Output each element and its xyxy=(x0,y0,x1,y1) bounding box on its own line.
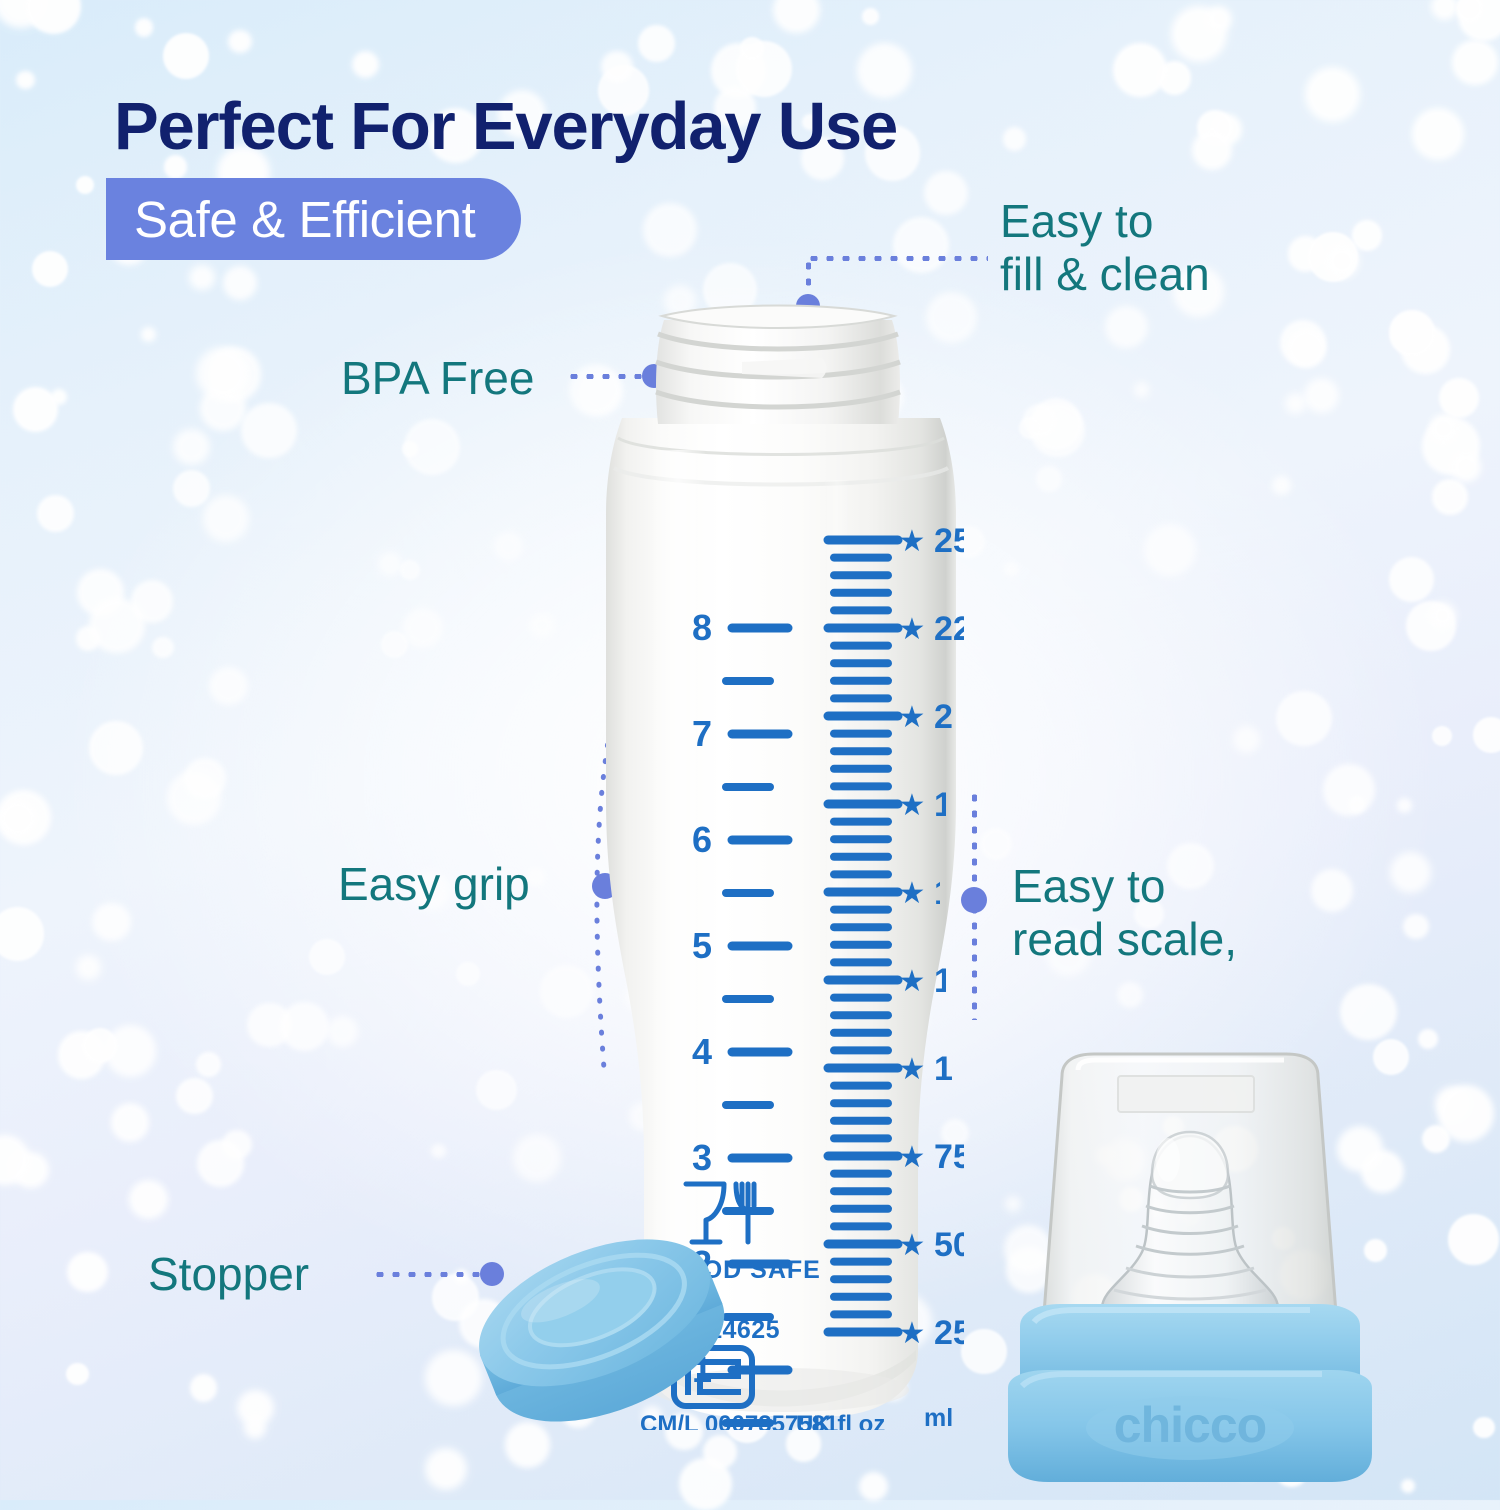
scale-star-icon: ★ xyxy=(899,789,926,822)
bokeh-dot xyxy=(1003,127,1027,151)
bokeh-dot xyxy=(223,266,257,300)
oz-scale-number: 8 xyxy=(692,607,712,648)
bokeh-dot xyxy=(1401,325,1450,374)
bokeh-dot xyxy=(76,176,94,194)
bokeh-dot xyxy=(1422,417,1480,475)
bokeh-dot xyxy=(1456,0,1484,22)
bokeh-dot xyxy=(425,1448,467,1490)
bokeh-dot xyxy=(1023,404,1056,437)
bokeh-dot xyxy=(1105,306,1147,348)
bokeh-dot xyxy=(184,758,225,799)
bokeh-dot xyxy=(1458,0,1500,41)
scale-star-icon: ★ xyxy=(899,1317,926,1350)
bokeh-dot xyxy=(0,790,51,845)
bokeh-dot xyxy=(1134,382,1149,397)
bokeh-dot xyxy=(540,965,593,1018)
bokeh-dot xyxy=(403,608,443,648)
bokeh-dot xyxy=(1412,108,1464,160)
bokeh-dot xyxy=(402,441,417,456)
bokeh-dot xyxy=(601,51,632,82)
nipple-cap-assembly: chicco xyxy=(990,1040,1390,1500)
bokeh-dot xyxy=(1192,130,1232,170)
bokeh-dot xyxy=(1429,414,1459,444)
bokeh-dot xyxy=(105,1025,157,1077)
bokeh-dot xyxy=(1030,403,1085,458)
bokeh-dot xyxy=(431,1144,445,1158)
cap-collar: chicco xyxy=(1008,1304,1372,1482)
bokeh-dot xyxy=(247,1003,291,1047)
bokeh-dot xyxy=(352,51,379,78)
bokeh-dot xyxy=(111,1103,149,1141)
bokeh-dot xyxy=(173,429,210,466)
bokeh-dot xyxy=(76,626,101,651)
bokeh-dot xyxy=(1406,601,1456,651)
bottle-neck-threads xyxy=(656,306,900,425)
oz-scale-number: 5 xyxy=(692,925,712,966)
bokeh-dot xyxy=(152,637,173,658)
callout-stopper: Stopper xyxy=(148,1248,309,1301)
bokeh-dot xyxy=(1390,852,1431,893)
ml-scale-number: 225 xyxy=(934,610,964,648)
bokeh-dot xyxy=(196,1052,221,1077)
bokeh-dot xyxy=(1304,378,1339,413)
subtitle-badge: Safe & Efficient xyxy=(106,178,521,260)
bokeh-dot xyxy=(378,552,402,576)
scale-star-icon: ★ xyxy=(899,877,926,910)
bokeh-dot xyxy=(26,0,81,34)
bokeh-dot xyxy=(1429,602,1456,629)
bokeh-dot xyxy=(13,387,58,432)
bokeh-dot xyxy=(1158,61,1192,95)
bokeh-dot xyxy=(1323,764,1375,816)
bokeh-dot xyxy=(1305,67,1360,122)
bokeh-dot xyxy=(89,721,143,775)
bokeh-dot xyxy=(1473,1417,1495,1439)
bokeh-dot xyxy=(638,25,675,62)
bokeh-dot xyxy=(862,8,879,25)
bokeh-dot xyxy=(1004,562,1018,576)
bokeh-dot xyxy=(222,1130,252,1160)
bokeh-dot xyxy=(679,1458,731,1510)
bokeh-dot xyxy=(135,18,154,37)
bokeh-dot xyxy=(190,1374,217,1401)
bokeh-dot xyxy=(1349,796,1365,812)
bokeh-dot xyxy=(207,347,261,401)
scale-star-icon: ★ xyxy=(899,1229,926,1262)
bokeh-dot xyxy=(66,1363,88,1385)
bokeh-dot xyxy=(12,1152,48,1188)
bokeh-dot xyxy=(16,71,35,90)
bokeh-dot xyxy=(1389,557,1434,602)
bokeh-dot xyxy=(32,251,68,287)
bokeh-dot xyxy=(1171,6,1227,62)
ml-unit-label: ml xyxy=(924,1404,953,1430)
bokeh-dot xyxy=(196,347,249,400)
bokeh-dot xyxy=(529,613,555,639)
chicco-brand-text: chicco xyxy=(1114,1397,1266,1453)
bokeh-dot xyxy=(400,560,420,580)
bokeh-dot xyxy=(244,1417,266,1439)
bokeh-dot xyxy=(1432,726,1453,747)
bokeh-dot xyxy=(1276,691,1331,746)
bokeh-dot xyxy=(237,1390,273,1426)
bokeh-dot xyxy=(893,217,949,273)
oz-scale-number: 4 xyxy=(692,1031,712,1072)
bokeh-dot xyxy=(37,495,74,532)
scale-star-icon: ★ xyxy=(899,1141,926,1174)
bottle-stopper xyxy=(468,1190,730,1458)
bokeh-dot xyxy=(786,1426,822,1462)
bokeh-dot xyxy=(0,801,36,837)
bokeh-dot xyxy=(1431,0,1458,20)
bokeh-dot xyxy=(980,828,1012,860)
bokeh-dot xyxy=(176,1078,213,1115)
bokeh-dot xyxy=(1233,726,1260,753)
bokeh-dot xyxy=(740,37,763,60)
bokeh-dot xyxy=(203,495,250,542)
bokeh-dot xyxy=(92,903,131,942)
oz-scale-number: 6 xyxy=(692,819,712,860)
bokeh-dot xyxy=(0,0,48,28)
bokeh-dot xyxy=(89,598,145,654)
bokeh-dot xyxy=(1287,329,1326,368)
bokeh-dot xyxy=(200,386,246,432)
ml-scale-number: 75 xyxy=(934,1138,964,1176)
bokeh-dot xyxy=(1352,220,1382,250)
bokeh-dot xyxy=(0,907,44,960)
bokeh-dot xyxy=(1438,1085,1494,1141)
bokeh-dot xyxy=(643,203,697,257)
callout-easy-read-scale: Easy to read scale, xyxy=(1012,860,1237,967)
bokeh-dot xyxy=(1197,110,1232,145)
bokeh-dot xyxy=(197,1140,244,1187)
scale-star-icon: ★ xyxy=(899,701,926,734)
bokeh-dot xyxy=(327,1016,358,1047)
bokeh-dot xyxy=(1452,40,1497,85)
bokeh-dot xyxy=(1311,869,1354,912)
bokeh-dot xyxy=(859,1472,888,1501)
bokeh-dot xyxy=(381,631,408,658)
scale-star-icon: ★ xyxy=(899,613,926,646)
bokeh-dot xyxy=(1308,232,1358,282)
bokeh-dot xyxy=(1451,452,1481,482)
bokeh-dot xyxy=(1117,982,1143,1008)
ml-scale-number: 50 xyxy=(934,1226,964,1264)
bokeh-dot xyxy=(1418,1029,1438,1049)
bokeh-dot xyxy=(228,30,251,53)
bokeh-dot xyxy=(494,532,524,562)
bokeh-dot xyxy=(1212,114,1243,145)
bokeh-dot xyxy=(280,1002,329,1051)
bokeh-dot xyxy=(1401,1479,1415,1493)
bokeh-dot xyxy=(163,33,209,79)
ml-scale-number: 25 xyxy=(934,1314,964,1352)
ml-scale-number: 100 xyxy=(934,1050,964,1088)
bokeh-dot xyxy=(51,389,67,405)
bokeh-dot xyxy=(76,955,101,980)
bokeh-dot xyxy=(129,1180,167,1218)
callout-easy-grip: Easy grip xyxy=(338,858,530,911)
bokeh-dot xyxy=(1448,1214,1499,1265)
bokeh-dot xyxy=(1435,1087,1468,1120)
scale-star-icon: ★ xyxy=(899,1053,926,1086)
bokeh-dot xyxy=(67,1252,107,1292)
bokeh-dot xyxy=(1019,417,1040,438)
bokeh-dot xyxy=(1036,466,1062,492)
callout-easy-fill-clean: Easy to fill & clean xyxy=(1000,195,1210,302)
bokeh-dot xyxy=(58,1031,106,1079)
bokeh-dot xyxy=(1288,236,1324,272)
bokeh-dot xyxy=(1113,43,1167,97)
ml-scale-number: 250 xyxy=(934,522,964,560)
bokeh-dot xyxy=(1432,479,1468,515)
bokeh-dot xyxy=(241,403,296,458)
bokeh-dot xyxy=(1340,984,1397,1041)
bokeh-dot xyxy=(1389,310,1434,355)
bokeh-dot xyxy=(131,580,173,622)
bokeh-dot xyxy=(189,265,215,291)
bokeh-dot xyxy=(173,470,211,508)
bokeh-dot xyxy=(1285,393,1306,414)
ml-scale-number: 200 xyxy=(934,698,964,736)
oz-scale-number: 3 xyxy=(692,1137,712,1178)
bokeh-dot xyxy=(209,667,247,705)
bokeh-dot xyxy=(1422,1125,1450,1153)
bokeh-dot xyxy=(773,0,819,33)
bokeh-dot xyxy=(1144,524,1196,576)
oz-scale-number: 7 xyxy=(692,713,712,754)
bokeh-dot xyxy=(141,327,156,342)
page-title: Perfect For Everyday Use xyxy=(114,88,897,165)
scale-star-icon: ★ xyxy=(899,525,926,558)
bokeh-dot xyxy=(1030,398,1082,450)
bokeh-dot xyxy=(513,1134,561,1182)
callout-bpa-free: BPA Free xyxy=(341,352,534,405)
bokeh-dot xyxy=(1325,244,1359,278)
bokeh-dot xyxy=(1397,798,1412,813)
bokeh-dot xyxy=(476,1070,516,1110)
bokeh-dot xyxy=(924,171,968,215)
bokeh-dot xyxy=(456,962,480,986)
ml-scale-number: 125 xyxy=(934,962,964,1000)
bokeh-dot xyxy=(404,419,460,475)
bokeh-dot xyxy=(1439,378,1479,418)
scale-star-icon: ★ xyxy=(899,965,926,998)
bokeh-dot xyxy=(1280,320,1326,366)
bokeh-dot xyxy=(1403,914,1429,940)
bokeh-dot xyxy=(1473,717,1500,753)
bokeh-dot xyxy=(1206,6,1232,32)
oz-unit-label: UK fl oz xyxy=(796,1411,885,1430)
bokeh-dot xyxy=(167,771,221,825)
bokeh-dot xyxy=(309,939,345,975)
bokeh-dot xyxy=(0,1135,30,1185)
bokeh-dot xyxy=(77,569,124,616)
bokeh-dot xyxy=(1272,476,1291,495)
bokeh-dot xyxy=(83,1028,118,1063)
